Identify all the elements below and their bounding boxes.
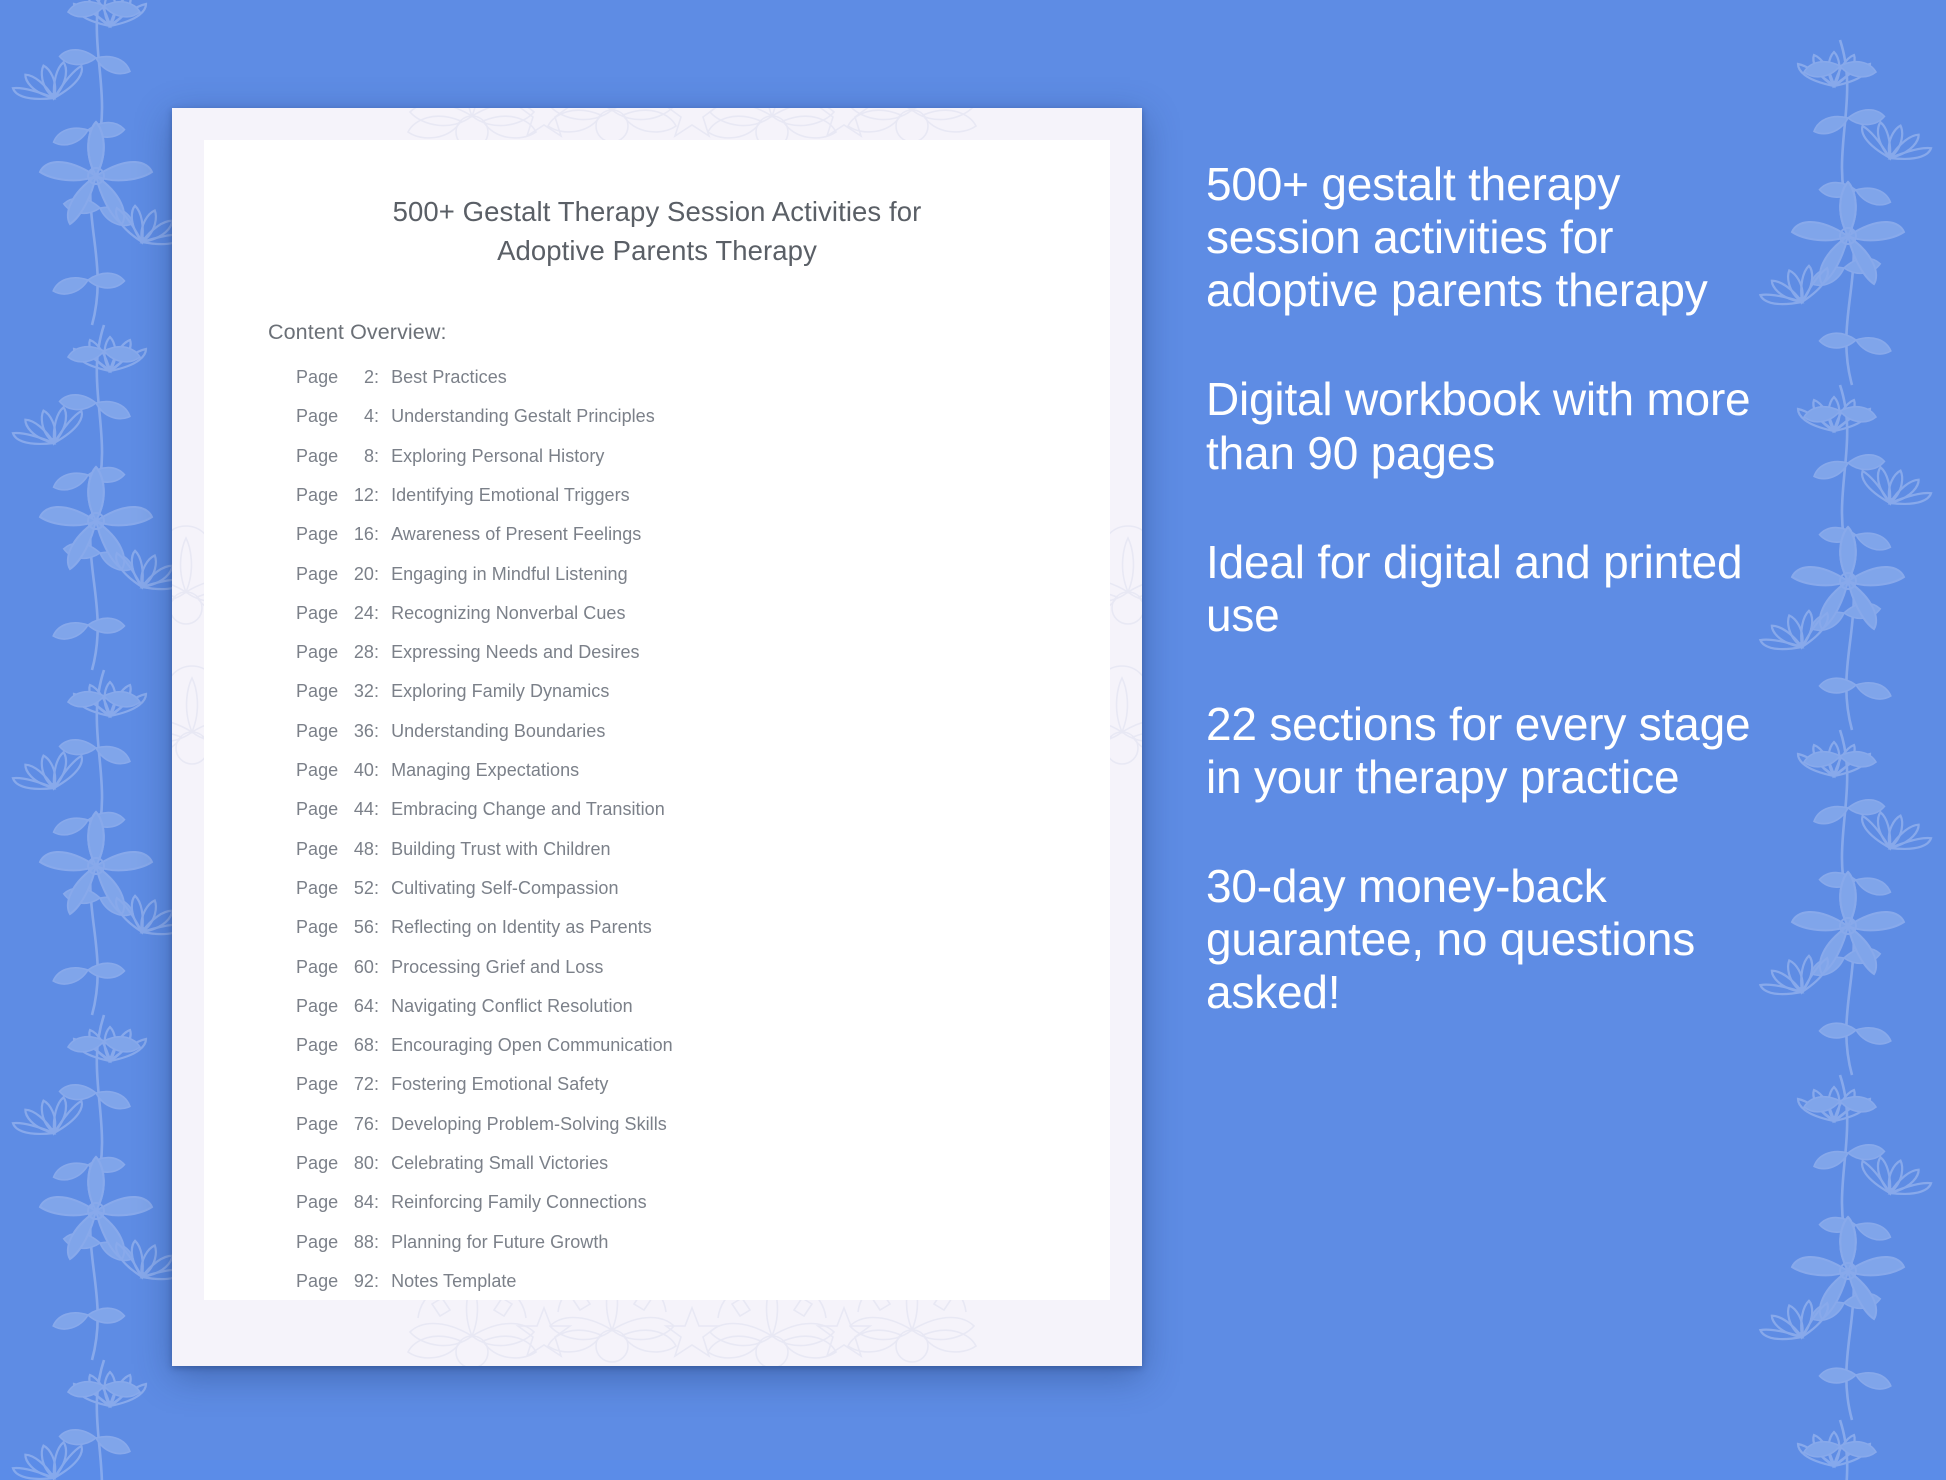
toc-section-title: Awareness of Present Feelings — [391, 524, 641, 545]
toc-page-word: Page — [296, 603, 342, 624]
toc-entry: Page16:Awareness of Present Feelings — [244, 524, 1070, 563]
toc-page-number: 44 — [342, 799, 374, 820]
toc-page-word: Page — [296, 1271, 342, 1292]
toc-entry: Page44:Embracing Change and Transition — [244, 799, 1070, 838]
toc-colon: : — [374, 564, 391, 585]
page-title: 500+ Gestalt Therapy Session Activities … — [337, 192, 977, 270]
toc-page-word: Page — [296, 1232, 342, 1253]
toc-colon: : — [374, 721, 391, 742]
toc-entry: Page32:Exploring Family Dynamics — [244, 681, 1070, 720]
toc-page-word: Page — [296, 957, 342, 978]
toc-page-word: Page — [296, 1035, 342, 1056]
toc-colon: : — [374, 681, 391, 702]
table-of-contents: Page2:Best PracticesPage4:Understanding … — [244, 367, 1070, 1300]
toc-section-title: Celebrating Small Victories — [391, 1153, 608, 1174]
toc-section-title: Fostering Emotional Safety — [391, 1074, 608, 1095]
toc-section-title: Encouraging Open Communication — [391, 1035, 673, 1056]
toc-section-title: Cultivating Self-Compassion — [391, 878, 618, 899]
marketing-bullets: 500+ gestalt therapy session activities … — [1206, 158, 1786, 1020]
toc-colon: : — [374, 996, 391, 1017]
toc-section-title: Identifying Emotional Triggers — [391, 485, 630, 506]
toc-section-title: Notes Template — [391, 1271, 516, 1292]
toc-entry: Page48:Building Trust with Children — [244, 839, 1070, 878]
toc-page-word: Page — [296, 721, 342, 742]
toc-entry: Page76:Developing Problem-Solving Skills — [244, 1114, 1070, 1153]
toc-colon: : — [374, 406, 391, 427]
toc-page-word: Page — [296, 760, 342, 781]
toc-page-number: 20 — [342, 564, 374, 585]
toc-section-title: Understanding Boundaries — [391, 721, 605, 742]
toc-entry: Page20:Engaging in Mindful Listening — [244, 564, 1070, 603]
toc-entry: Page4:Understanding Gestalt Principles — [244, 406, 1070, 445]
toc-page-number: 2 — [342, 367, 374, 388]
toc-colon: : — [374, 1074, 391, 1095]
marketing-bullet: 22 sections for every stage in your ther… — [1206, 698, 1786, 804]
toc-page-number: 64 — [342, 996, 374, 1017]
toc-colon: : — [374, 1035, 391, 1056]
toc-page-number: 48 — [342, 839, 374, 860]
marketing-bullet: Ideal for digital and printed use — [1206, 536, 1786, 642]
toc-colon: : — [374, 642, 391, 663]
marketing-bullet: 30-day money-back guarantee, no question… — [1206, 860, 1786, 1019]
toc-colon: : — [374, 603, 391, 624]
toc-section-title: Developing Problem-Solving Skills — [391, 1114, 667, 1135]
toc-section-title: Engaging in Mindful Listening — [391, 564, 628, 585]
toc-colon: : — [374, 485, 391, 506]
toc-entry: Page40:Managing Expectations — [244, 760, 1070, 799]
toc-section-title: Embracing Change and Transition — [391, 799, 665, 820]
toc-colon: : — [374, 839, 391, 860]
toc-section-title: Exploring Personal History — [391, 446, 604, 467]
toc-colon: : — [374, 1114, 391, 1135]
toc-page-number: 60 — [342, 957, 374, 978]
toc-entry: Page12:Identifying Emotional Triggers — [244, 485, 1070, 524]
toc-page-number: 16 — [342, 524, 374, 545]
toc-page-number: 76 — [342, 1114, 374, 1135]
toc-page-number: 88 — [342, 1232, 374, 1253]
toc-colon: : — [374, 917, 391, 938]
toc-page-word: Page — [296, 524, 342, 545]
toc-page-word: Page — [296, 917, 342, 938]
toc-page-number: 72 — [342, 1074, 374, 1095]
toc-page-word: Page — [296, 485, 342, 506]
document-page: 500+ Gestalt Therapy Session Activities … — [204, 140, 1110, 1300]
toc-page-number: 40 — [342, 760, 374, 781]
toc-entry: Page2:Best Practices — [244, 367, 1070, 406]
toc-page-number: 80 — [342, 1153, 374, 1174]
toc-page-word: Page — [296, 878, 342, 899]
toc-page-word: Page — [296, 996, 342, 1017]
toc-page-number: 36 — [342, 721, 374, 742]
toc-section-title: Recognizing Nonverbal Cues — [391, 603, 625, 624]
toc-page-word: Page — [296, 406, 342, 427]
toc-colon: : — [374, 446, 391, 467]
marketing-bullet: Digital workbook with more than 90 pages — [1206, 373, 1786, 479]
toc-page-number: 92 — [342, 1271, 374, 1292]
toc-page-word: Page — [296, 799, 342, 820]
toc-entry: Page36:Understanding Boundaries — [244, 721, 1070, 760]
toc-page-number: 32 — [342, 681, 374, 702]
toc-section-title: Processing Grief and Loss — [391, 957, 603, 978]
toc-page-word: Page — [296, 681, 342, 702]
toc-page-word: Page — [296, 367, 342, 388]
toc-colon: : — [374, 367, 391, 388]
toc-colon: : — [374, 1271, 391, 1292]
toc-section-title: Navigating Conflict Resolution — [391, 996, 633, 1017]
toc-page-number: 4 — [342, 406, 374, 427]
content-overview-label: Content Overview: — [268, 320, 1070, 345]
document-preview-card[interactable]: 500+ Gestalt Therapy Session Activities … — [172, 108, 1142, 1366]
toc-colon: : — [374, 1232, 391, 1253]
toc-section-title: Reinforcing Family Connections — [391, 1192, 647, 1213]
toc-entry: Page60:Processing Grief and Loss — [244, 957, 1070, 996]
toc-page-number: 8 — [342, 446, 374, 467]
toc-colon: : — [374, 1192, 391, 1213]
toc-page-word: Page — [296, 1192, 342, 1213]
toc-section-title: Best Practices — [391, 367, 507, 388]
toc-section-title: Reflecting on Identity as Parents — [391, 917, 652, 938]
toc-entry: Page84:Reinforcing Family Connections — [244, 1192, 1070, 1231]
toc-entry: Page68:Encouraging Open Communication — [244, 1035, 1070, 1074]
toc-section-title: Expressing Needs and Desires — [391, 642, 640, 663]
toc-entry: Page28:Expressing Needs and Desires — [244, 642, 1070, 681]
toc-page-word: Page — [296, 564, 342, 585]
toc-entry: Page52:Cultivating Self-Compassion — [244, 878, 1070, 917]
toc-page-word: Page — [296, 1114, 342, 1135]
toc-colon: : — [374, 957, 391, 978]
toc-section-title: Understanding Gestalt Principles — [391, 406, 655, 427]
toc-page-number: 12 — [342, 485, 374, 506]
toc-colon: : — [374, 1153, 391, 1174]
toc-entry: Page56:Reflecting on Identity as Parents — [244, 917, 1070, 956]
toc-page-word: Page — [296, 642, 342, 663]
toc-page-number: 28 — [342, 642, 374, 663]
toc-section-title: Planning for Future Growth — [391, 1232, 608, 1253]
toc-colon: : — [374, 799, 391, 820]
toc-entry: Page80:Celebrating Small Victories — [244, 1153, 1070, 1192]
toc-entry: Page24:Recognizing Nonverbal Cues — [244, 603, 1070, 642]
toc-page-number: 68 — [342, 1035, 374, 1056]
toc-entry: Page64:Navigating Conflict Resolution — [244, 996, 1070, 1035]
toc-page-word: Page — [296, 446, 342, 467]
toc-entry: Page92:Notes Template — [244, 1271, 1070, 1300]
toc-entry: Page88:Planning for Future Growth — [244, 1232, 1070, 1271]
toc-page-number: 56 — [342, 917, 374, 938]
toc-page-word: Page — [296, 1074, 342, 1095]
toc-section-title: Building Trust with Children — [391, 839, 611, 860]
toc-section-title: Exploring Family Dynamics — [391, 681, 609, 702]
toc-page-number: 84 — [342, 1192, 374, 1213]
toc-section-title: Managing Expectations — [391, 760, 579, 781]
toc-colon: : — [374, 524, 391, 545]
toc-entry: Page72:Fostering Emotional Safety — [244, 1074, 1070, 1113]
toc-colon: : — [374, 760, 391, 781]
toc-page-number: 52 — [342, 878, 374, 899]
toc-colon: : — [374, 878, 391, 899]
toc-page-number: 24 — [342, 603, 374, 624]
toc-page-word: Page — [296, 1153, 342, 1174]
listing-canvas: 500+ Gestalt Therapy Session Activities … — [0, 0, 1946, 1460]
toc-entry: Page8:Exploring Personal History — [244, 446, 1070, 485]
marketing-bullet: 500+ gestalt therapy session activities … — [1206, 158, 1786, 317]
toc-page-word: Page — [296, 839, 342, 860]
